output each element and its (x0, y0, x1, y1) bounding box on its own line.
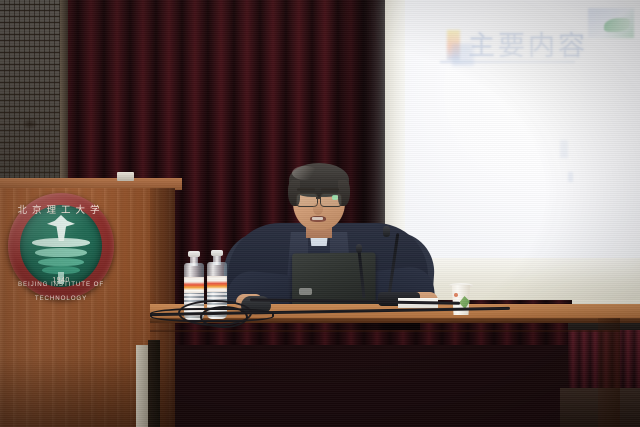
slide-title-underline (440, 61, 575, 63)
desk-front-panel (150, 322, 620, 427)
speaker-hair-highlight (292, 166, 318, 180)
slide-faint-mark (560, 140, 568, 158)
speaker-teeth (312, 217, 323, 220)
slide-faint-mark-secondary (568, 172, 573, 182)
podium-top-object (117, 172, 134, 181)
eyeglasses-bridge (316, 197, 321, 199)
lecture-hall-photo: 主要内容 北京理工大学 1940 BEIJING INSTIT (0, 0, 640, 427)
bottle-cap (188, 251, 200, 257)
speaker-eyebrow-left (297, 188, 315, 191)
bottle-label (184, 277, 204, 293)
speaker-eyebrow-right (321, 188, 339, 191)
speaker-nose (313, 203, 323, 215)
podium-support-post (136, 345, 148, 427)
microphone-head-secondary[interactable] (356, 244, 362, 253)
paper-cup-dot-icon (454, 293, 458, 297)
bottle-label (207, 276, 227, 292)
desk-seam (150, 330, 620, 332)
eyeglasses-lens-right (320, 193, 342, 207)
eyeglasses-glint (332, 195, 338, 200)
microphone-head[interactable] (383, 226, 390, 237)
emblem-gloss (8, 193, 114, 299)
laptop-brand-logo-icon (299, 288, 312, 295)
desk-cable-loop (150, 308, 274, 322)
acoustic-wall-panel (0, 0, 68, 196)
bottle-cap (211, 250, 223, 256)
wall-panel-seam (60, 0, 68, 196)
wall-smudge (22, 118, 38, 130)
desk-right-edge (598, 318, 620, 427)
